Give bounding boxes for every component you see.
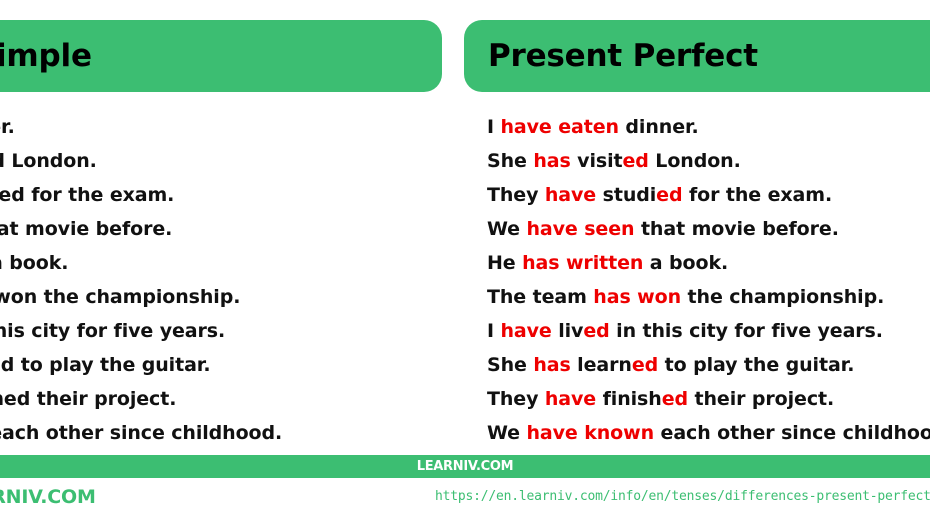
column-past-simple: Past Simple I ate dinner. She visited Lo… (0, 0, 442, 450)
sentence-item: I have eaten dinner. (487, 110, 930, 144)
sentence-text: in this city for five years. (610, 320, 883, 342)
sentence-text: We (487, 422, 526, 444)
sentence-text: He (487, 252, 522, 274)
sentence-text: visit (571, 150, 623, 172)
highlighted-verb: have known (526, 422, 654, 444)
highlighted-verb: have (545, 184, 596, 206)
sentence-text: They finished their project. (0, 388, 176, 410)
sentence-text: The team won the championship. (0, 286, 240, 308)
column-present-perfect: Present Perfect I have eaten dinner. She… (464, 0, 930, 450)
sentence-item: The team won the championship. (0, 280, 442, 314)
sentence-item: I lived in this city for five years. (0, 314, 442, 348)
sentence-text: She visited London. (0, 150, 97, 172)
sentence-item: We knew each other since childhood. (0, 416, 442, 450)
sentence-item: The team has won the championship. (487, 280, 930, 314)
sentence-text: their project. (688, 388, 834, 410)
sentence-text: liv (552, 320, 584, 342)
sentence-item: She has visited London. (487, 144, 930, 178)
sentence-item: They have finished their project. (487, 382, 930, 416)
highlighted-verb: has (533, 150, 570, 172)
sentence-text: She learned to play the guitar. (0, 354, 210, 376)
source-url-link[interactable]: https://en.learniv.com/info/en/tenses/di… (435, 489, 930, 504)
sentence-list-past-simple: I ate dinner. She visited London. They s… (0, 110, 442, 450)
sentence-item: We saw that movie before. (0, 212, 442, 246)
highlighted-verb: ed (583, 320, 609, 342)
highlighted-verb: ed (662, 388, 688, 410)
sentence-text: They (487, 388, 545, 410)
infographic-canvas: Past Simple I ate dinner. She visited Lo… (0, 0, 930, 478)
sentence-text: that movie before. (634, 218, 838, 240)
sentence-text: She (487, 150, 533, 172)
sentence-text: We knew each other since childhood. (0, 422, 282, 444)
sentence-item: They finished their project. (0, 382, 442, 416)
highlighted-verb: ed (632, 354, 658, 376)
sentence-text: She (487, 354, 533, 376)
footer-strip: LEARNIV.COM https://en.learniv.com/info/… (0, 478, 930, 517)
highlighted-verb: have (545, 388, 596, 410)
column-header-past-simple: Past Simple (0, 20, 442, 92)
column-header-present-perfect: Present Perfect (464, 20, 930, 92)
sentence-item: She visited London. (0, 144, 442, 178)
sentence-text: for the exam. (682, 184, 832, 206)
comparison-columns: Past Simple I ate dinner. She visited Lo… (0, 0, 930, 450)
highlighted-verb: has written (522, 252, 643, 274)
sentence-item: He wrote a book. (0, 246, 442, 280)
sentence-item: They studied for the exam. (0, 178, 442, 212)
sentence-item: I ate dinner. (0, 110, 442, 144)
sentence-item: He has written a book. (487, 246, 930, 280)
sentence-text: I ate dinner. (0, 116, 15, 138)
sentence-text: He wrote a book. (0, 252, 68, 274)
sentence-list-present-perfect: I have eaten dinner. She has visited Lon… (464, 110, 930, 450)
sentence-text: studi (596, 184, 656, 206)
column-title-present-perfect: Present Perfect (488, 41, 758, 72)
sentence-text: I (487, 116, 500, 138)
sentence-text: learn (571, 354, 632, 376)
sentence-text: dinner. (619, 116, 699, 138)
highlighted-verb: have eaten (500, 116, 618, 138)
sentence-text: They studied for the exam. (0, 184, 174, 206)
sentence-text: finish (596, 388, 662, 410)
sentence-item: She learned to play the guitar. (0, 348, 442, 382)
sentence-text: I (487, 320, 500, 342)
highlighted-verb: have seen (526, 218, 634, 240)
sentence-text: I lived in this city for five years. (0, 320, 225, 342)
highlighted-verb: ed (656, 184, 682, 206)
sentence-text: the championship. (681, 286, 884, 308)
sentence-text: The team (487, 286, 593, 308)
sentence-item: She has learned to play the guitar. (487, 348, 930, 382)
sentence-item: We have seen that movie before. (487, 212, 930, 246)
highlighted-verb: has won (593, 286, 681, 308)
highlighted-verb: has (533, 354, 570, 376)
sentence-text: to play the guitar. (658, 354, 854, 376)
sentence-item: We have known each other since childhood… (487, 416, 930, 450)
sentence-text: We saw that movie before. (0, 218, 172, 240)
highlighted-verb: ed (623, 150, 649, 172)
brand-bar-label: LEARNIV.COM (417, 459, 514, 474)
sentence-text: We (487, 218, 526, 240)
brand-bar: LEARNIV.COM (0, 455, 930, 478)
sentence-text: each other since childhood. (654, 422, 930, 444)
sentence-text: a book. (643, 252, 728, 274)
sentence-item: They have studied for the exam. (487, 178, 930, 212)
sentence-item: I have lived in this city for five years… (487, 314, 930, 348)
site-logo: LEARNIV.COM (0, 486, 96, 508)
sentence-text: They (487, 184, 545, 206)
column-title-past-simple: Past Simple (0, 41, 92, 72)
highlighted-verb: have (500, 320, 551, 342)
sentence-text: London. (649, 150, 741, 172)
